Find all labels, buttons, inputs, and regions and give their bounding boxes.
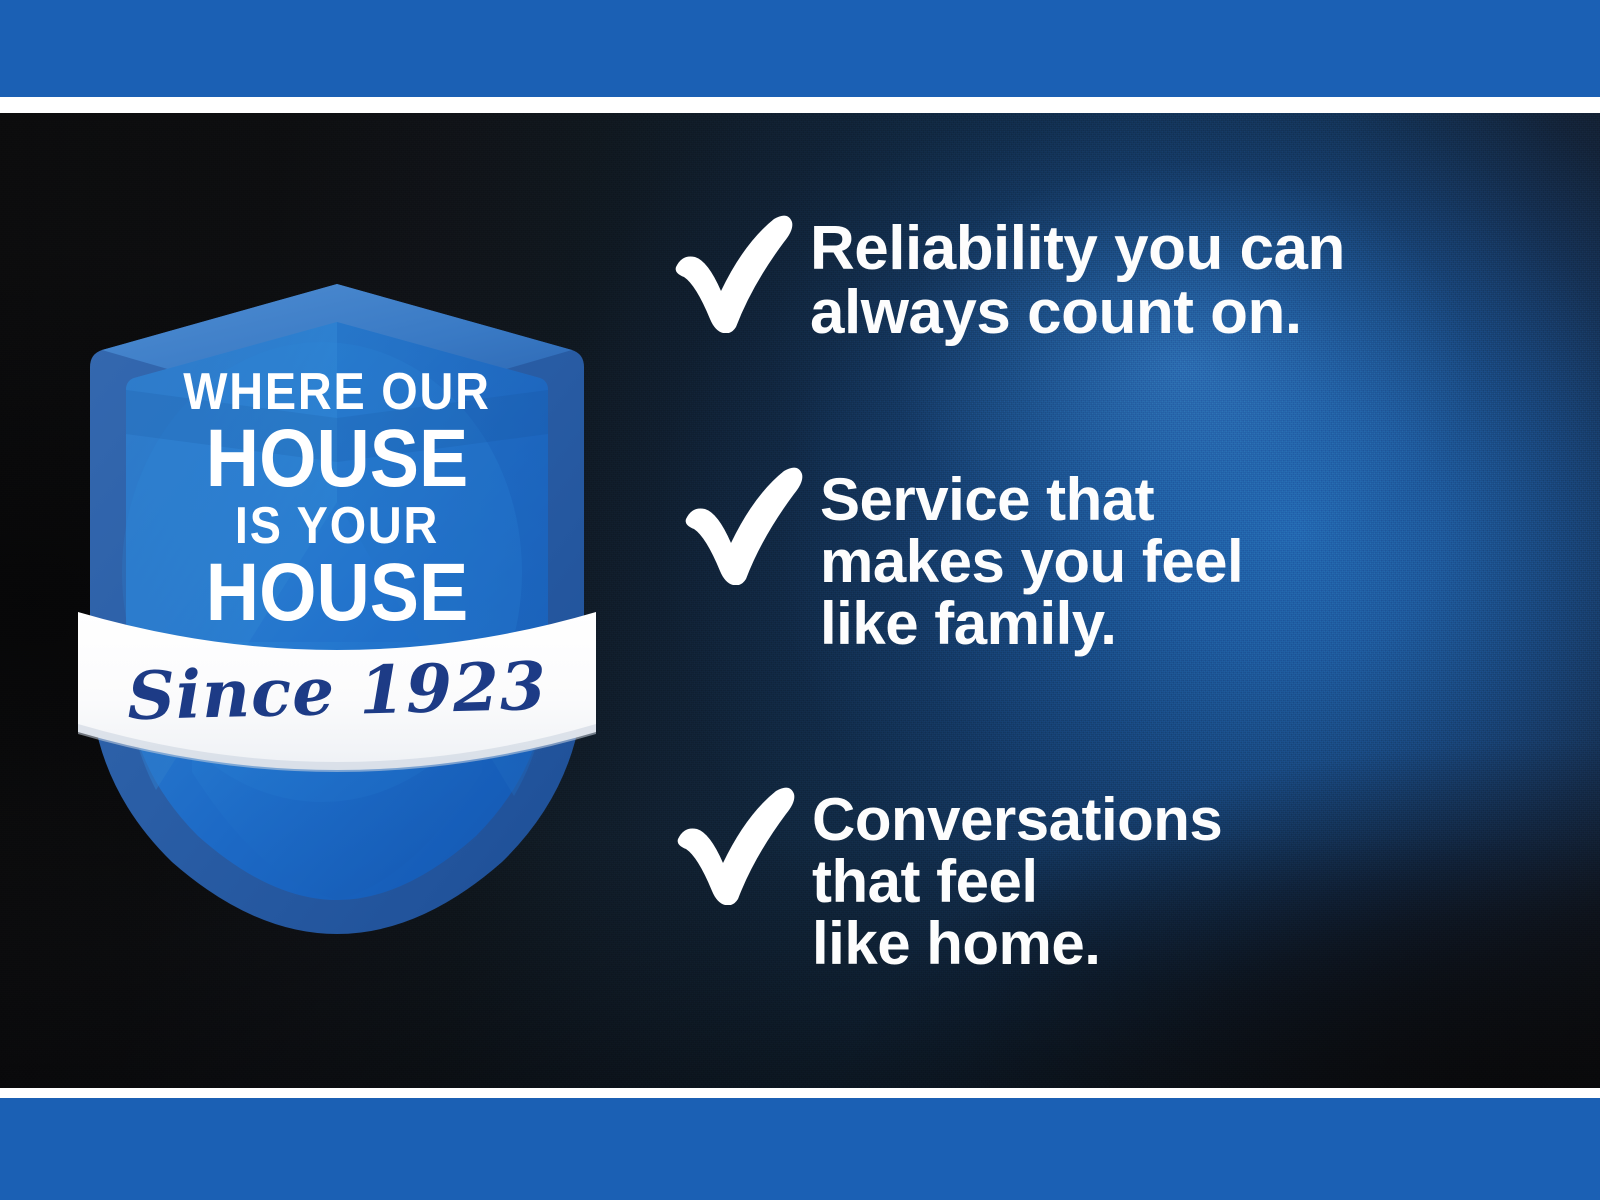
checkmark-icon xyxy=(668,213,796,333)
company-badge-logo: Where our House is your House Since 1923 xyxy=(72,172,602,932)
benefit-item-3: Conversations that feel like home. xyxy=(670,785,1222,974)
top-white-divider xyxy=(0,97,1600,113)
bottom-white-divider xyxy=(0,1088,1600,1098)
checkmark-icon xyxy=(678,465,806,585)
top-brand-band xyxy=(0,0,1600,97)
bottom-brand-band xyxy=(0,1098,1600,1200)
benefit-item-1: Reliability you can always count on. xyxy=(668,213,1345,345)
benefit-text-3: Conversations that feel like home. xyxy=(812,785,1222,974)
checkmark-icon xyxy=(670,785,798,905)
benefit-text-1: Reliability you can always count on. xyxy=(810,213,1345,345)
benefits-list: Reliability you can always count on. Ser… xyxy=(668,113,1568,1088)
promo-graphic: Where our House is your House Since 1923… xyxy=(0,0,1600,1200)
benefit-text-2: Service that makes you feel like family. xyxy=(820,465,1243,654)
benefit-item-2: Service that makes you feel like family. xyxy=(678,465,1243,654)
